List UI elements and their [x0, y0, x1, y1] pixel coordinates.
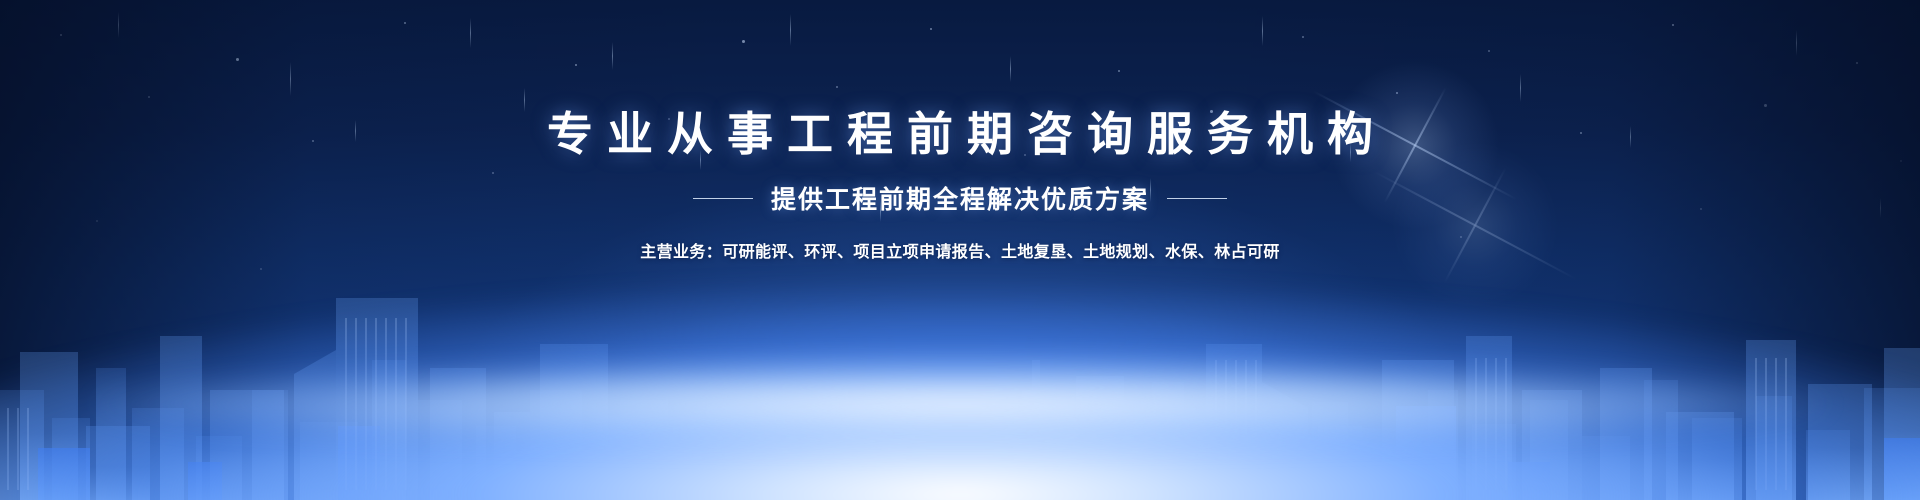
skyline-shapes	[0, 240, 1920, 500]
skyline-mid-layer	[20, 298, 1920, 500]
subtitle-row: 提供工程前期全程解决优质方案	[0, 180, 1920, 216]
services-list: 主营业务：可研能评、环评、项目立项申请报告、土地复垦、土地规划、水保、林占可研	[0, 238, 1920, 262]
page-subtitle: 提供工程前期全程解决优质方案	[771, 180, 1149, 216]
right-rule-decoration	[1167, 198, 1227, 199]
left-rule-decoration	[693, 198, 753, 199]
hero-banner: 专业从事工程前期咨询服务机构 提供工程前期全程解决优质方案 主营业务：可研能评、…	[0, 0, 1920, 500]
banner-content: 专业从事工程前期咨询服务机构 提供工程前期全程解决优质方案 主营业务：可研能评、…	[0, 0, 1920, 262]
page-title: 专业从事工程前期咨询服务机构	[0, 108, 1920, 160]
city-skyline	[0, 240, 1920, 500]
